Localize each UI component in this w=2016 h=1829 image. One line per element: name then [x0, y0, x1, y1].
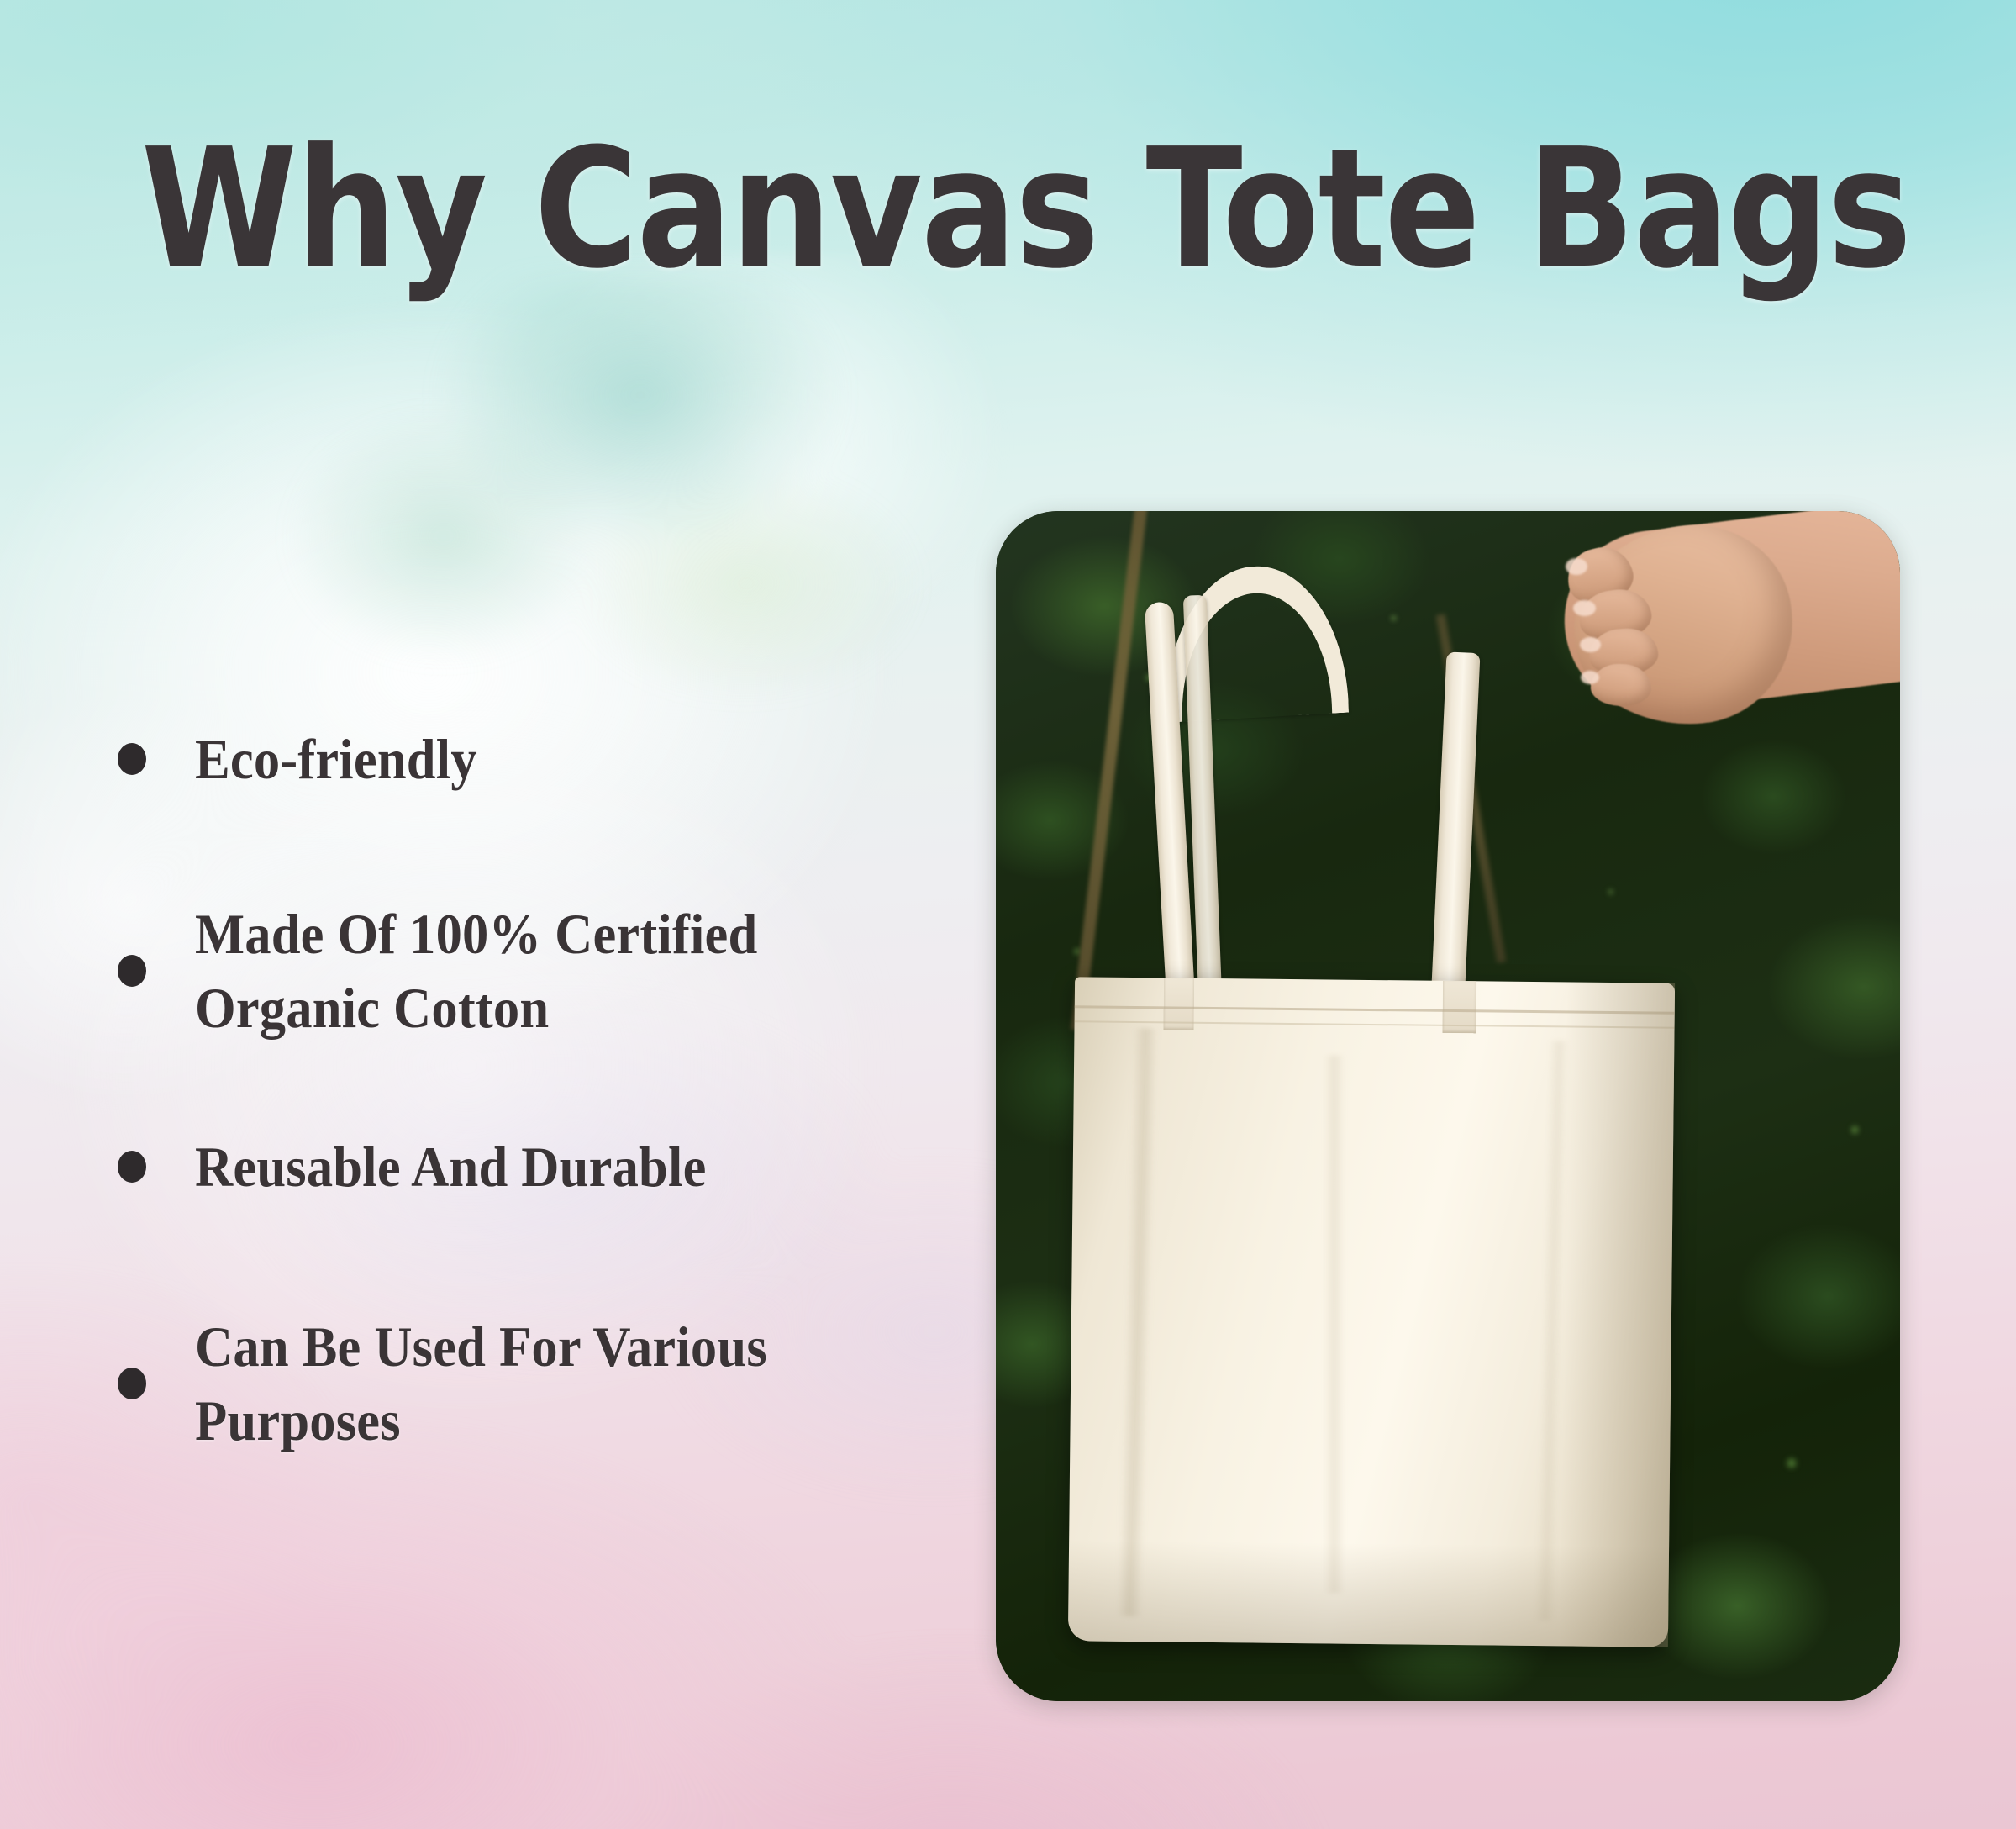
benefit-label: Eco-friendly — [195, 722, 477, 796]
fingernail — [1580, 637, 1601, 652]
list-item: Made Of 100% Certified Organic Cotton — [118, 897, 975, 1046]
bullet-dot-icon — [118, 955, 146, 987]
list-item: Eco-friendly — [118, 719, 975, 799]
poster-canvas: Why Canvas Tote Bags Eco-friendly Made O… — [0, 0, 2016, 1829]
bullet-dot-icon — [118, 1368, 146, 1399]
page-title: Why Canvas Tote Bags — [141, 126, 1875, 294]
benefit-label: Reusable And Durable — [195, 1130, 707, 1204]
bag-shading — [1068, 1540, 1669, 1647]
fingernail — [1581, 671, 1599, 684]
fingernail — [1566, 558, 1587, 575]
list-item: Reusable And Durable — [118, 1126, 975, 1207]
fabric-fold — [1117, 1028, 1159, 1617]
tote-bag-body — [1068, 977, 1675, 1647]
product-photo — [996, 511, 1900, 1701]
bullet-dot-icon — [118, 743, 146, 775]
bullet-dot-icon — [118, 1151, 146, 1183]
benefit-label: Can Be Used For Various Purposes — [195, 1310, 813, 1458]
fingernail — [1573, 600, 1596, 616]
fabric-fold — [1324, 1056, 1345, 1594]
benefit-label: Made Of 100% Certified Organic Cotton — [195, 897, 782, 1046]
list-item: Can Be Used For Various Purposes — [118, 1310, 975, 1458]
benefits-list: Eco-friendly Made Of 100% Certified Orga… — [118, 719, 975, 1458]
